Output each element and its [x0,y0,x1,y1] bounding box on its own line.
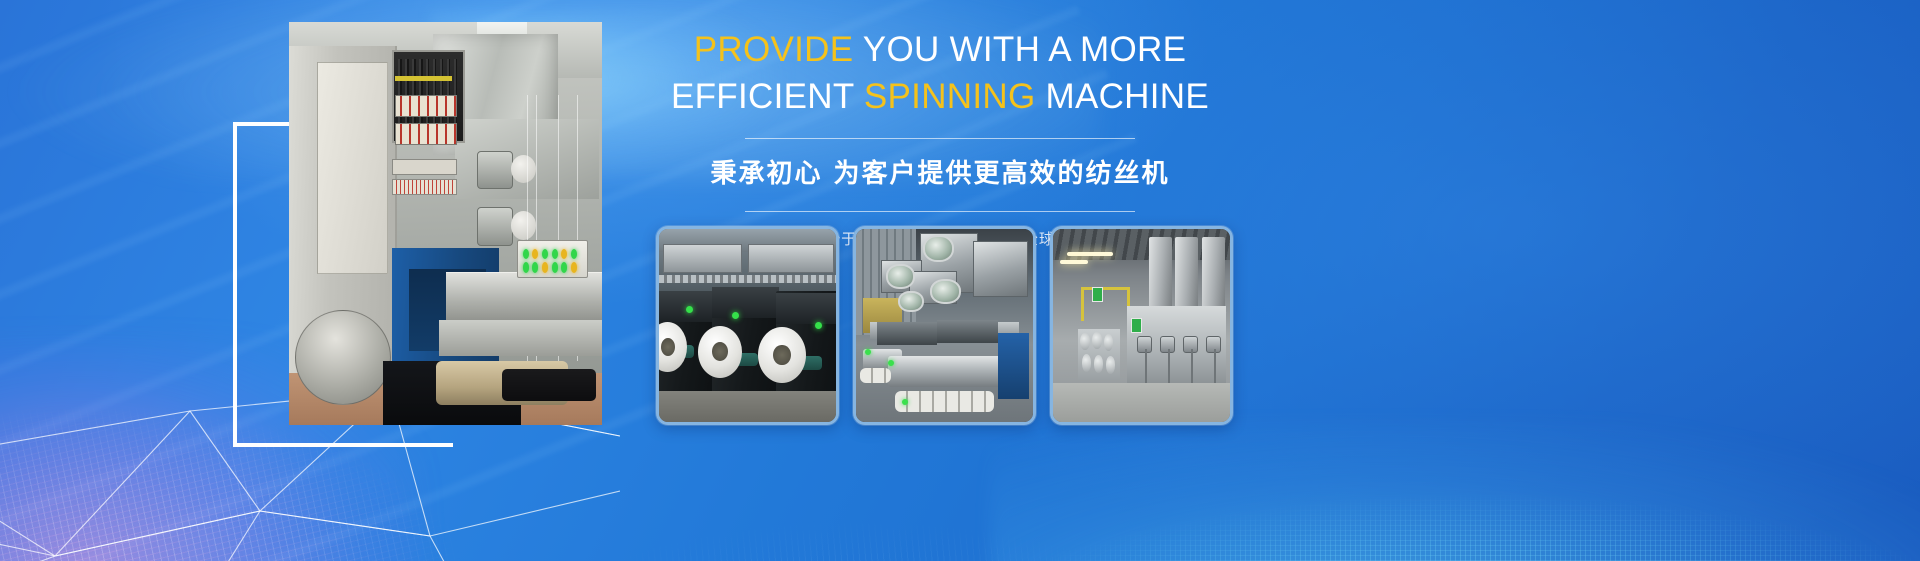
thumbnail-winding-machines[interactable] [656,226,839,425]
headline-highlight-provide: PROVIDE [694,30,854,69]
headline-line-1: PROVIDE YOU WITH A MORE [620,20,1260,67]
headline-highlight-spinning: SPINNING [864,77,1036,116]
headline-rest-2b: MACHINE [1035,77,1209,116]
cyan-wave-glow [990,421,1920,561]
thumbnail-extrusion-line[interactable] [853,226,1036,425]
divider-bottom [745,211,1135,212]
banner-copy: PROVIDE YOU WITH A MORE EFFICIENT SPINNI… [620,20,1260,247]
machine-control-panel [517,240,588,278]
thumbnail-strip [656,226,1233,425]
subheadline: 秉承初心 为客户提供更高效的纺丝机 [620,161,1260,187]
headline-rest-1: YOU WITH A MORE [853,30,1186,69]
headline-rest-2a: EFFICIENT [671,77,864,116]
headline-line-2: EFFICIENT SPINNING MACHINE [620,67,1260,114]
spinning-machine-photo [289,22,602,425]
hero-banner: PROVIDE YOU WITH A MORE EFFICIENT SPINNI… [0,0,1920,561]
thumbnail-production-plant[interactable] [1050,226,1233,425]
divider-top [745,138,1135,139]
